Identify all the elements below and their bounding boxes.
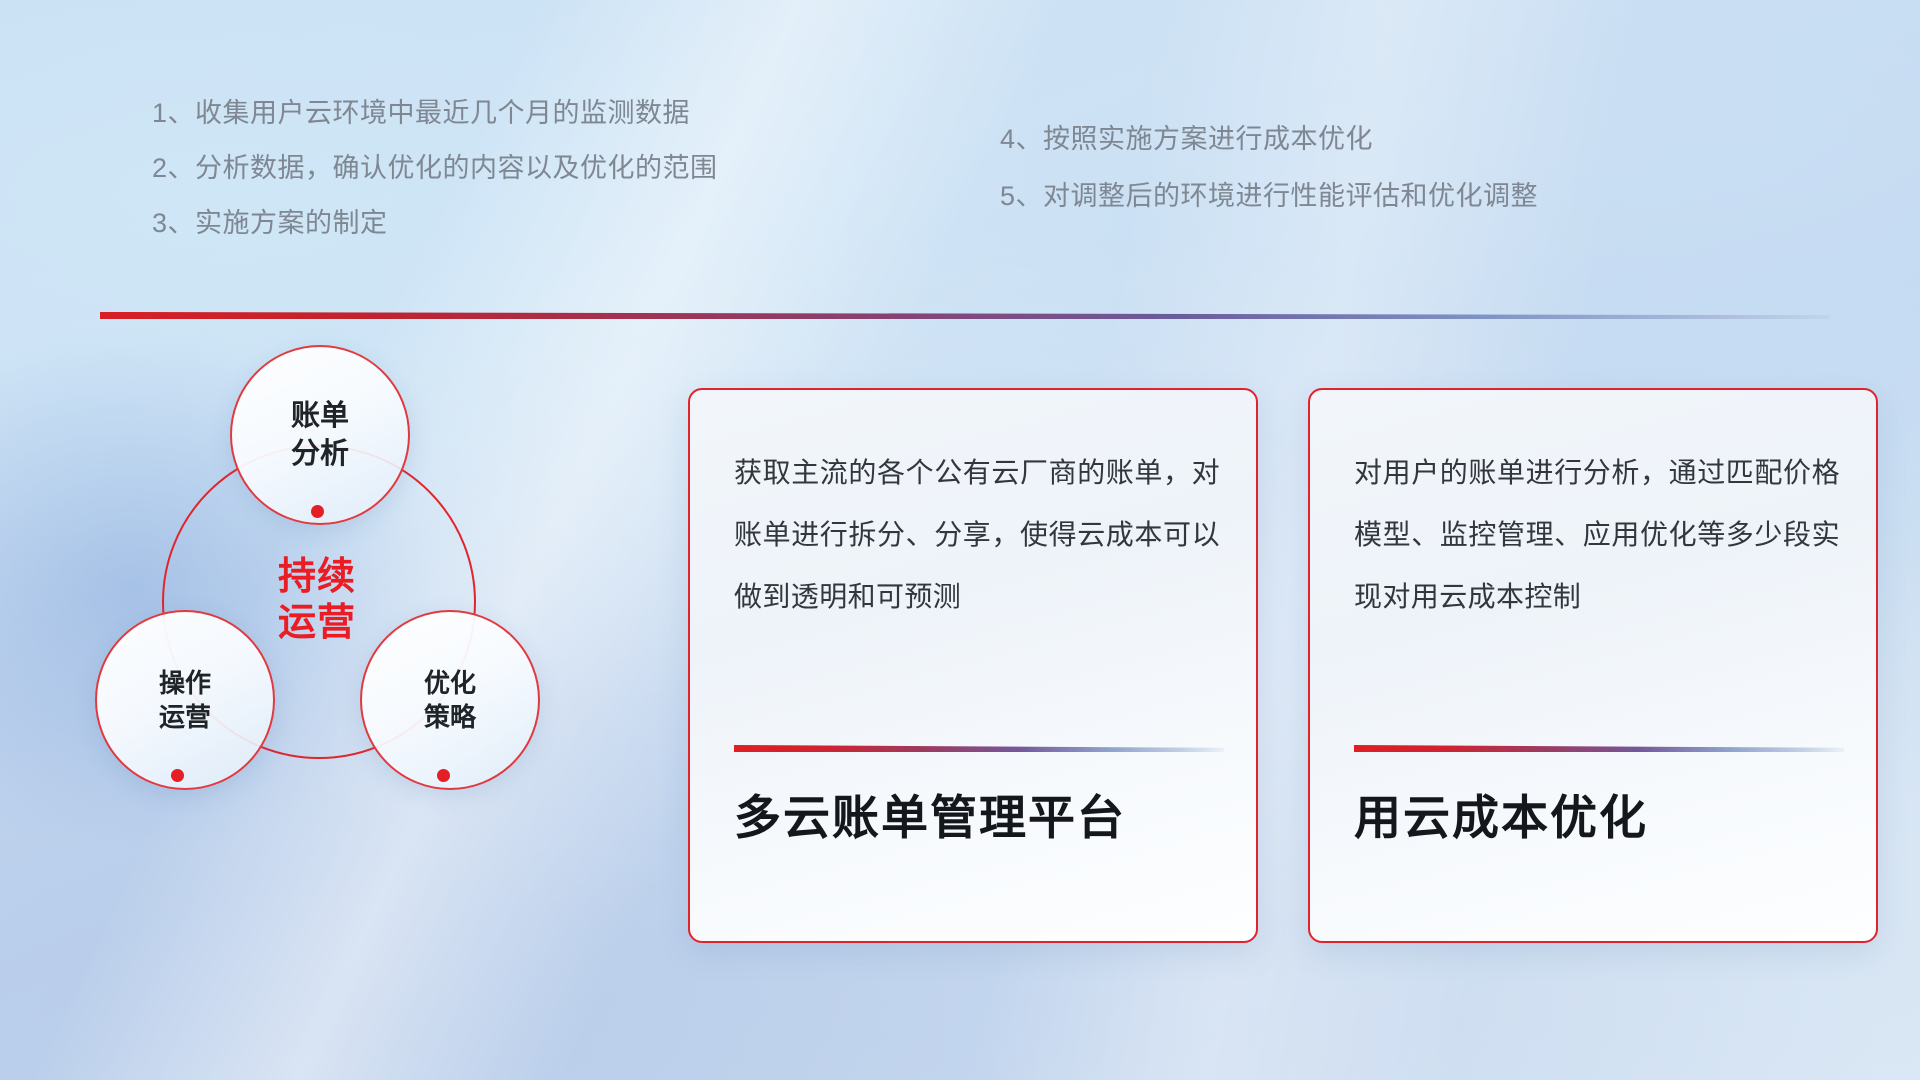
venn-circle-left-line1: 操作 — [159, 666, 211, 700]
venn-circle-operations[interactable]: 操作 运营 — [95, 610, 275, 790]
step-item-4: 4、按照实施方案进行成本优化 — [1000, 126, 1538, 153]
venn-node-dot-top — [311, 505, 324, 518]
steps-list-right: 4、按照实施方案进行成本优化 5、对调整后的环境进行性能评估和优化调整 — [1000, 126, 1538, 240]
step-item-5: 5、对调整后的环境进行性能评估和优化调整 — [1000, 183, 1538, 210]
step-item-1: 1、收集用户云环境中最近几个月的监测数据 — [152, 100, 718, 127]
step-item-2: 2、分析数据，确认优化的内容以及优化的范围 — [152, 155, 718, 182]
feature-card-separator — [734, 745, 1224, 752]
feature-card-cost-optimization[interactable]: 对用户的账单进行分析，通过匹配价格模型、监控管理、应用优化等多少段实现对用云成本… — [1308, 388, 1878, 943]
step-item-3: 3、实施方案的制定 — [152, 210, 718, 237]
venn-circle-optimization-strategy[interactable]: 优化 策略 — [360, 610, 540, 790]
feature-card-separator — [1354, 745, 1844, 752]
feature-card-multicloud-billing[interactable]: 获取主流的各个公有云厂商的账单，对账单进行拆分、分享，使得云成本可以做到透明和可… — [688, 388, 1258, 943]
venn-circle-top-line2: 分析 — [291, 435, 349, 473]
feature-card-body: 获取主流的各个公有云厂商的账单，对账单进行拆分、分享，使得云成本可以做到透明和可… — [734, 442, 1220, 628]
venn-node-dot-left — [171, 769, 184, 782]
venn-circle-right-line1: 优化 — [424, 666, 476, 700]
venn-center-label-line1: 持续 — [278, 554, 356, 600]
venn-center-label-line2: 运营 — [278, 600, 356, 646]
venn-circle-billing-analysis[interactable]: 账单 分析 — [230, 345, 410, 525]
feature-card-title: 用云成本优化 — [1354, 790, 1840, 846]
venn-circle-right-line2: 策略 — [424, 700, 476, 734]
venn-circle-top-line1: 账单 — [291, 397, 349, 435]
feature-card-title: 多云账单管理平台 — [734, 790, 1220, 846]
steps-list-left: 1、收集用户云环境中最近几个月的监测数据 2、分析数据，确认优化的内容以及优化的… — [152, 100, 718, 265]
feature-card-body: 对用户的账单进行分析，通过匹配价格模型、监控管理、应用优化等多少段实现对用云成本… — [1354, 442, 1840, 628]
venn-diagram: 持续 运营 账单 分析 操作 运营 优化 策略 — [95, 355, 615, 915]
venn-circle-left-line2: 运营 — [159, 700, 211, 734]
venn-node-dot-right — [437, 769, 450, 782]
